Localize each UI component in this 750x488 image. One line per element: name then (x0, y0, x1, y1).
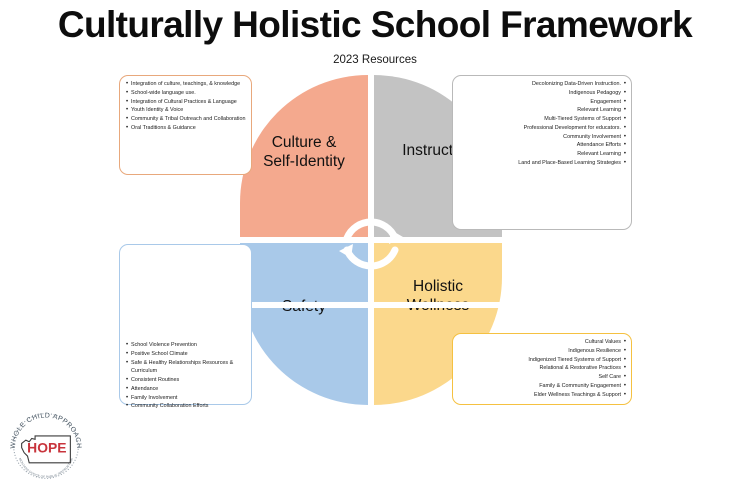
list-item: Attendance (126, 385, 246, 394)
list-item: School-wide language use. (126, 89, 246, 98)
list-item: Positive School Climate (126, 350, 246, 359)
callout-culture-list: Integration of culture, teachings, & kno… (126, 80, 246, 133)
quadrant-label-culture: Culture & Self-Identity (240, 133, 368, 172)
list-item: Community Involvement (459, 133, 626, 142)
list-item: Consistent Routines (126, 376, 246, 385)
list-item: School Violence Prevention (126, 341, 246, 350)
list-item: Engagement (459, 98, 626, 107)
list-item: Integration of culture, teachings, & kno… (126, 80, 246, 89)
list-item: Professional Development for educators. (459, 124, 626, 133)
list-item: Family Involvement (126, 394, 246, 403)
list-item: Relevant Learning (459, 150, 626, 159)
list-item: Family & Community Engagement (459, 382, 626, 391)
list-item: Indigenous Pedagogy (459, 89, 626, 98)
list-item: Relational & Restorative Practices (459, 364, 626, 373)
divider-vertical (368, 143, 374, 483)
divider-horizontal (236, 302, 506, 308)
list-item: Cultural Values (459, 338, 626, 347)
callout-safety[interactable]: School Violence Prevention Positive Scho… (119, 244, 252, 405)
hope-logo[interactable]: WHOLE CHILD APPROACH MONTANA OFFICE OF P… (4, 404, 88, 488)
list-item: Self Care (459, 373, 626, 382)
list-item: Land and Place-Based Learning Strategies (459, 159, 626, 168)
list-item: Oral Traditions & Guidance (126, 124, 246, 133)
logo-wordmark: HOPE (27, 440, 66, 456)
list-item: Indigenous Resilience (459, 347, 626, 356)
callout-instruction[interactable]: Decolonizing Data-Driven Instruction. In… (452, 75, 632, 230)
callout-wellness-list: Cultural Values Indigenous Resilience In… (459, 338, 626, 399)
list-item: Integration of Cultural Practices & Lang… (126, 98, 246, 107)
framework-diagram: Culture & Self-Identity Instruction Safe… (0, 68, 750, 422)
quadrant-label-culture-line1: Culture & (240, 133, 368, 152)
list-item: Attendance Efforts (459, 141, 626, 150)
list-item: Indigenized Tiered Systems of Support (459, 356, 626, 365)
list-item: Community & Tribal Outreach and Collabor… (126, 115, 246, 124)
list-item: Relevant Learning (459, 106, 626, 115)
list-item: Elder Wellness Teachings & Support (459, 391, 626, 400)
list-item: Youth Identity & Voice (126, 106, 246, 115)
list-item: Multi-Tiered Systems of Support (459, 115, 626, 124)
callout-instruction-list: Decolonizing Data-Driven Instruction. In… (459, 80, 626, 168)
list-item: Safe & Healthy Relationships Resources &… (126, 359, 246, 377)
callout-culture[interactable]: Integration of culture, teachings, & kno… (119, 75, 252, 175)
page-title: Culturally Holistic School Framework (0, 4, 750, 46)
page-subtitle: 2023 Resources (0, 54, 750, 66)
callout-wellness[interactable]: Cultural Values Indigenous Resilience In… (452, 333, 632, 405)
callout-safety-list: School Violence Prevention Positive Scho… (126, 341, 246, 411)
list-item: Community Collaboration Efforts (126, 402, 246, 411)
quadrant-label-culture-line2: Self-Identity (240, 152, 368, 171)
list-item: Decolonizing Data-Driven Instruction. (459, 80, 626, 89)
